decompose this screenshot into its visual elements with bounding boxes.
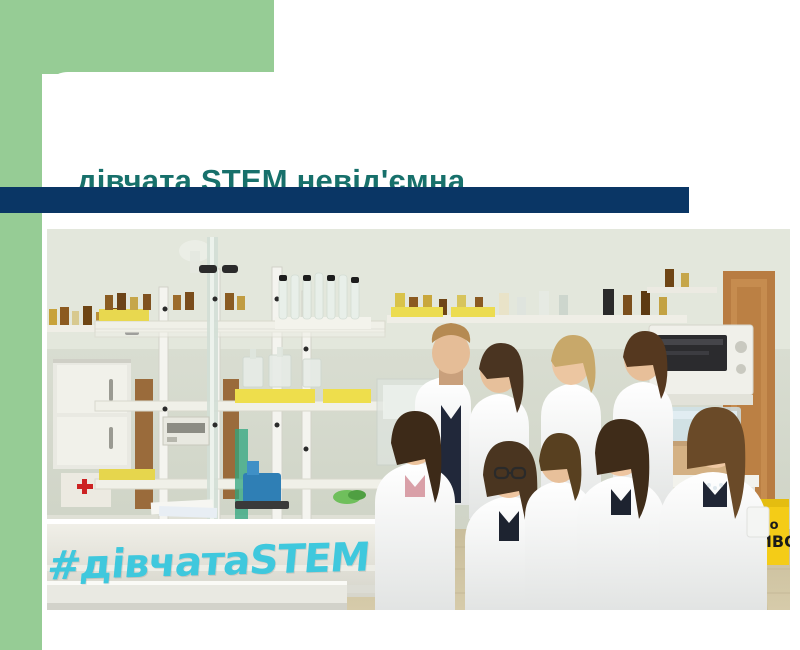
photo-artwork: Hallo JUMBO (47, 229, 790, 610)
laboratory-group-photo: Hallo JUMBO (47, 229, 790, 610)
navy-accent-bar (0, 187, 689, 213)
green-decor-left-strip (0, 0, 42, 650)
slide-canvas: дівчата STEM невід'ємна частина кафедри (0, 0, 800, 650)
